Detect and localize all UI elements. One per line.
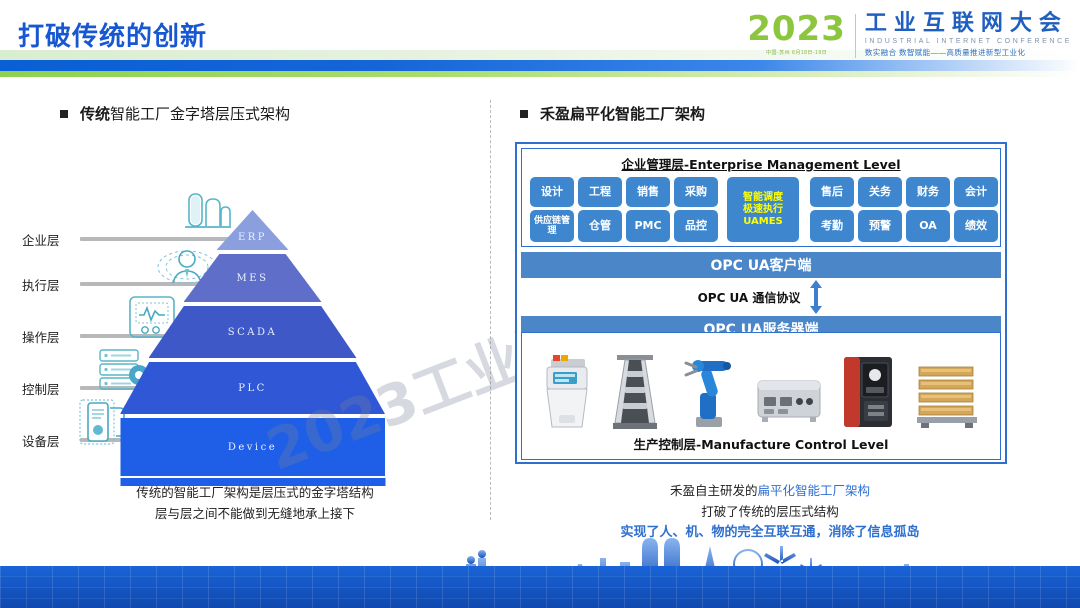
chip-design[interactable]: 设计 [530, 177, 574, 207]
section-heading-left: 传统智能工厂金字塔层压式架构 [60, 103, 290, 124]
chip-finance[interactable]: 财务 [906, 177, 950, 207]
chip-uames[interactable]: 智能调度 极速执行 UAMES [727, 177, 799, 242]
caption-left: 传统的智能工厂架构是层压式的金字塔结构 层与层之间不能做到无缝地承上接下 [60, 482, 450, 524]
pyramid-tier-device: Device [120, 418, 385, 476]
chip-row-left-top: 设计 工程 销售 采购 [530, 177, 718, 207]
enterprise-management-box: 企业管理层-Enterprise Management Level 设计 工程 … [521, 148, 1001, 247]
chip-row-right-top: 售后 关务 财务 会计 [810, 177, 998, 207]
pyramid-shape: ERP MES SCADA PLC Device [120, 210, 385, 500]
pyramid-label-2: 操作层 [22, 327, 60, 346]
chip-customs[interactable]: 关务 [858, 177, 902, 207]
industrial-pc-icon [756, 369, 822, 431]
chip-performance[interactable]: 绩效 [954, 210, 998, 242]
opc-ua-protocol-label: OPC UA 通信协议 [521, 282, 1001, 312]
pyramid-tier-scada: SCADA [149, 306, 357, 358]
conference-logo: 2023 中国·苏州 8月18日-19日 工业互联网大会 INDUSTRIAL … [747, 12, 1072, 58]
logo-divider [855, 14, 856, 58]
page-header: 打破传统的创新 2023 中国·苏州 8月18日-19日 工业互联网大会 IND… [0, 0, 1080, 80]
bidirectional-arrow-icon [808, 280, 824, 314]
enterprise-management-title: 企业管理层-Enterprise Management Level [522, 154, 1000, 173]
logo-year: 2023 [747, 12, 846, 46]
pyramid-tier-erp: ERP [217, 210, 289, 250]
page-title: 打破传统的创新 [18, 16, 207, 53]
machining-center-icon [840, 353, 896, 431]
chip-alert[interactable]: 预警 [858, 210, 902, 242]
pyramid-label-0: 企业层 [22, 230, 60, 249]
chip-engineering[interactable]: 工程 [578, 177, 622, 207]
section-heading-right: 禾盈扁平化智能工厂架构 [520, 103, 705, 124]
chip-oa[interactable]: OA [906, 210, 950, 242]
pyramid-label-3: 控制层 [22, 379, 60, 398]
device-strip [522, 341, 1000, 431]
pyramid-panel: 企业层 执行层 操作层 控制层 设备层 [0, 150, 480, 490]
caption-right-line2: 打破了传统的层压式结构 [560, 501, 980, 522]
section-right-title: 禾盈扁平化智能工厂架构 [540, 103, 705, 124]
chip-accounting[interactable]: 会计 [954, 177, 998, 207]
chip-supply-chain[interactable]: 供应链管理 [530, 210, 574, 242]
chip-uames-line1: 智能调度 [743, 192, 783, 204]
logo-english-name: INDUSTRIAL INTERNET CONFERENCE [865, 38, 1072, 45]
chip-sales[interactable]: 销售 [626, 177, 670, 207]
chip-uames-line3: UAMES [743, 216, 783, 228]
logo-chinese-name: 工业互联网大会 [865, 12, 1072, 36]
chip-row-right-bottom: 考勤 预警 OA 绩效 [810, 210, 998, 242]
conveyor-rail-icon [611, 353, 659, 431]
cnc-machine-icon [541, 353, 593, 431]
manufacture-control-title: 生产控制层-Manufacture Control Level [522, 434, 1000, 453]
chip-warehouse[interactable]: 仓管 [578, 210, 622, 242]
logo-slogan: 数实融合 数智赋能——高质量推进新型工业化 [865, 47, 1072, 58]
caption-left-line2: 层与层之间不能做到无缝地承上接下 [60, 503, 450, 524]
chip-pmc[interactable]: PMC [626, 210, 670, 242]
section-left-title: 传统智能工厂金字塔层压式架构 [80, 103, 290, 124]
pyramid-tier-mes: MES [184, 254, 322, 302]
bullet-square-icon [60, 110, 68, 118]
pallet-rack-icon [915, 361, 981, 431]
page-footer [0, 528, 1080, 608]
vertical-divider [490, 100, 491, 520]
header-green-bar [0, 71, 1080, 77]
pyramid-label-4: 设备层 [22, 431, 60, 450]
flat-architecture-diagram: 企业管理层-Enterprise Management Level 设计 工程 … [515, 142, 1007, 464]
bullet-square-icon [520, 110, 528, 118]
caption-right-line1: 禾盈自主研发的扁平化智能工厂架构 [560, 480, 980, 501]
footer-grid-pattern [0, 566, 1080, 608]
chip-purchasing[interactable]: 采购 [674, 177, 718, 207]
logo-year-subtitle: 中国·苏州 8月18日-19日 [766, 49, 827, 56]
pyramid-tier-plc: PLC [120, 362, 385, 414]
chip-row-left-bottom: 供应链管理 仓管 PMC 品控 [530, 210, 718, 242]
robot-arm-icon [678, 353, 738, 431]
header-blue-bar [0, 60, 1080, 71]
chip-attendance[interactable]: 考勤 [810, 210, 854, 242]
pyramid-label-1: 执行层 [22, 275, 60, 294]
chip-uames-line2: 极速执行 [743, 204, 783, 216]
caption-left-line1: 传统的智能工厂架构是层压式的金字塔结构 [60, 482, 450, 503]
chip-quality-control[interactable]: 品控 [674, 210, 718, 242]
chip-after-sales[interactable]: 售后 [810, 177, 854, 207]
manufacture-control-box: 生产控制层-Manufacture Control Level [521, 332, 1001, 460]
opc-ua-client-band: OPC UA客户端 [521, 252, 1001, 278]
